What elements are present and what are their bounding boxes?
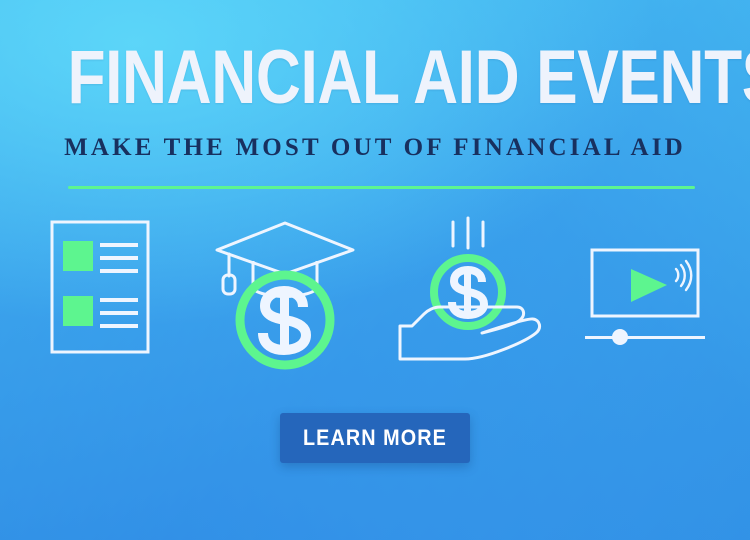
banner-title: FINANCIAL AID EVENTS <box>68 38 683 118</box>
document-list-icon <box>30 214 190 374</box>
banner-content: FINANCIAL AID EVENTS MAKE THE MOST OUT O… <box>0 0 750 540</box>
banner-subtitle: MAKE THE MOST OUT OF FINANCIAL AID <box>0 133 750 163</box>
graduation-cap-dollar-icon <box>205 214 365 374</box>
green-divider-rule <box>68 186 695 189</box>
financial-aid-events-banner: FINANCIAL AID EVENTS MAKE THE MOST OUT O… <box>0 0 750 540</box>
icon-row <box>0 214 750 374</box>
hand-holding-dollar-icon <box>390 214 560 374</box>
video-player-icon <box>575 214 725 374</box>
learn-more-button[interactable]: LEARN MORE <box>280 413 470 463</box>
learn-more-label: LEARN MORE <box>303 425 447 451</box>
